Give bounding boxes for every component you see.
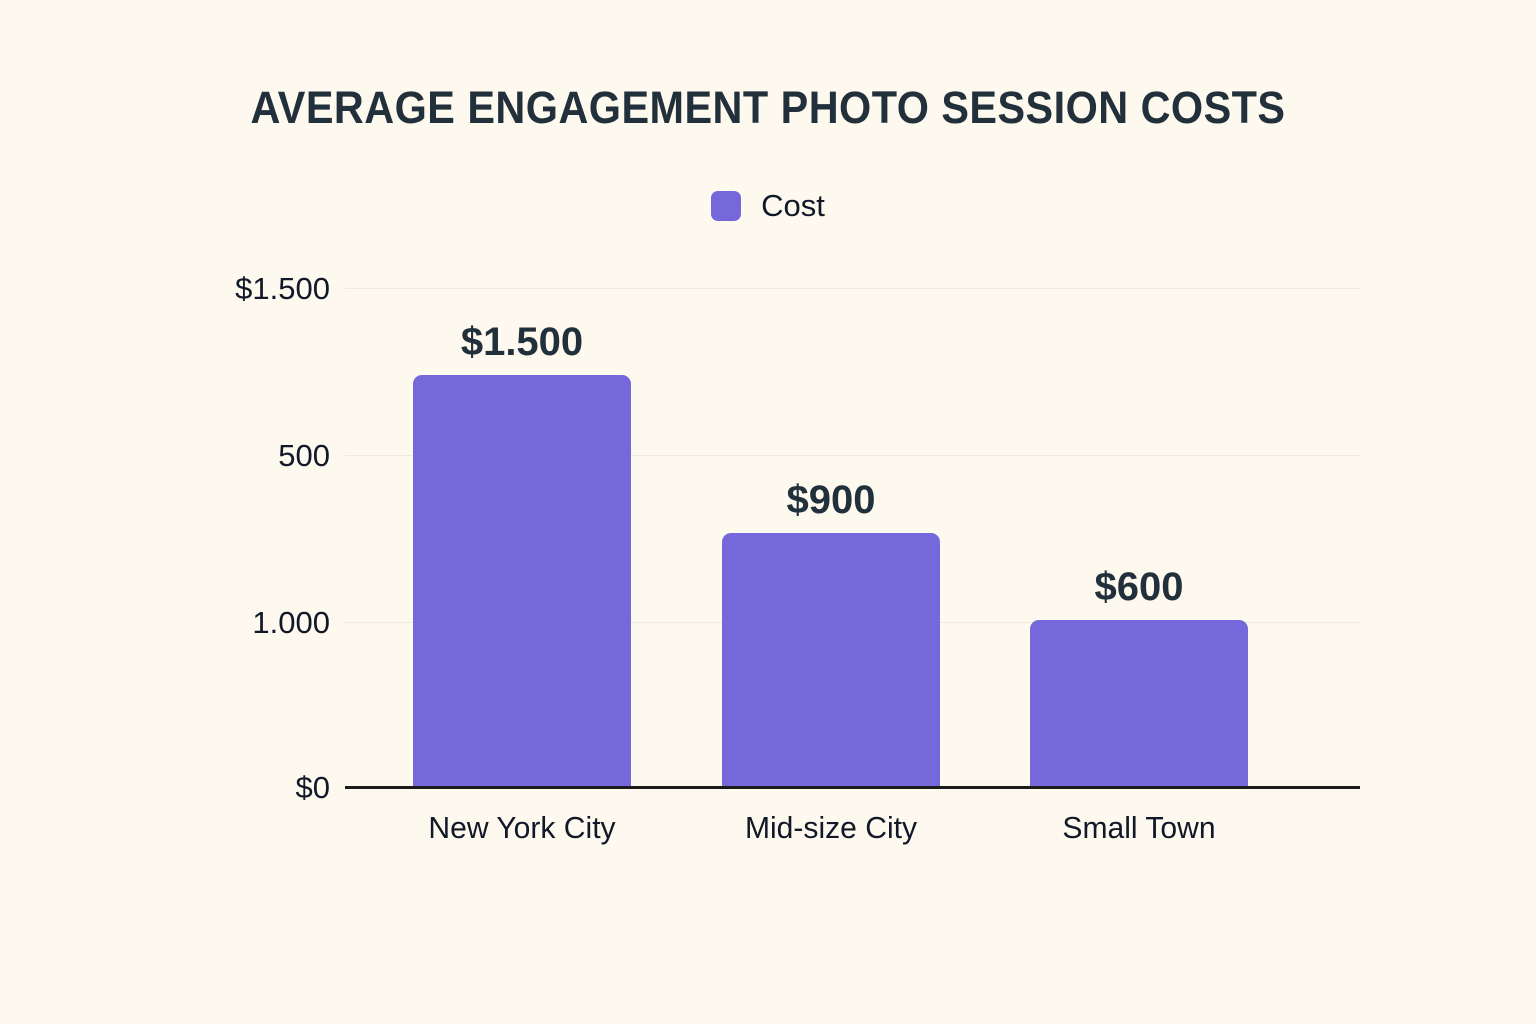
y-axis-tick-label: $1.500 [0, 273, 330, 304]
legend-color-swatch-icon [711, 191, 741, 221]
y-axis-tick-label: 500 [0, 440, 330, 471]
x-axis-category-label: Mid-size City [716, 812, 947, 843]
x-axis-category-label: Small Town [1024, 812, 1255, 843]
x-axis-line [345, 786, 1360, 789]
bar-value-label: $1.500 [413, 322, 631, 362]
legend-item-cost[interactable]: Cost [711, 190, 825, 221]
legend-item-label: Cost [761, 190, 825, 221]
x-axis-category-label: New York City [407, 812, 638, 843]
bar-mid-size-city[interactable] [722, 533, 940, 787]
gridline-1 [345, 288, 1360, 289]
y-axis-tick-label: $0 [0, 772, 330, 803]
bar-value-label: $600 [1030, 567, 1248, 607]
chart-container: AVERAGE ENGAGEMENT PHOTO SESSION COSTS C… [0, 0, 1536, 1024]
bar-value-label: $900 [722, 480, 940, 520]
y-axis: $1.500 500 1.000 $0 [0, 0, 330, 1024]
bar-new-york-city[interactable] [413, 375, 631, 787]
y-axis-tick-label: 1.000 [0, 607, 330, 638]
bar-small-town[interactable] [1030, 620, 1248, 787]
